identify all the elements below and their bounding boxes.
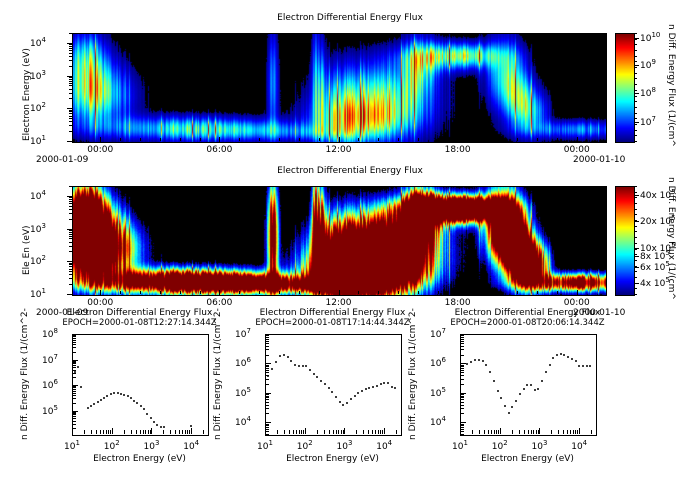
y-minor-tick [72, 412, 76, 413]
y-minor-tick [69, 81, 73, 82]
y-tickmark [67, 294, 73, 295]
x-minor-tick [148, 430, 149, 434]
y-minor-tick [265, 370, 269, 371]
x-tickmark [579, 428, 580, 434]
data-point [80, 386, 82, 388]
x-tickmark [500, 428, 501, 434]
y-minor-tick [69, 263, 73, 264]
data-point [294, 364, 296, 366]
cbar-minor-tick [634, 39, 637, 40]
cbar-tickmark [634, 122, 639, 123]
spectrum-x-label-2: Electron Energy (eV) [440, 454, 615, 464]
x-minor-tick [336, 430, 337, 434]
y-minor-tick [460, 372, 464, 373]
top-date-left: 2000-01-09 [36, 155, 88, 165]
y-minor-tick [69, 113, 73, 114]
x-minor-tick [140, 291, 141, 294]
cbar-minor-tick [634, 90, 637, 91]
x-minor-tick [145, 430, 146, 434]
x-minor-tick [84, 430, 85, 434]
y-minor-tick [69, 93, 73, 94]
x-minor-tick [396, 430, 397, 434]
y-minor-tick [460, 425, 464, 426]
data-point [103, 397, 105, 399]
y-minor-tick [265, 337, 269, 338]
y-tick-top-3: 103 [30, 69, 46, 82]
y-minor-tick [69, 89, 73, 90]
y-minor-tick [69, 66, 73, 67]
x-minor-tick [378, 430, 379, 434]
y-minor-tick [72, 344, 76, 345]
x-minor-tick [573, 430, 574, 434]
data-point [328, 387, 330, 389]
cbar-tick-top-3: 1010 [640, 31, 660, 44]
x-minor-tick [160, 138, 161, 141]
x-minor-tick [570, 430, 571, 434]
x-minor-tick [512, 430, 513, 434]
x-minor-tick [143, 430, 144, 434]
x-minor-tick [136, 430, 137, 434]
y-minor-tick [72, 362, 76, 363]
x-minor-tick [293, 430, 294, 434]
data-point [100, 399, 102, 401]
x-minor-tick [358, 291, 359, 294]
spectrum-x-tick-1-1: 102 [294, 439, 316, 452]
y-minor-tick [69, 85, 73, 86]
y-minor-tick [69, 121, 73, 122]
spectrum-y-label-0: n Diff. Energy Flux (1/(cm^2- [20, 308, 30, 440]
y-minor-tick [69, 284, 73, 285]
y-minor-tick [265, 355, 269, 356]
data-point [160, 426, 162, 428]
cbar-tickmark [634, 195, 639, 196]
y-minor-tick [69, 131, 73, 132]
data-point [497, 390, 499, 392]
cbar-minor-tick [634, 249, 637, 250]
x-minor-tick [458, 138, 459, 141]
x-minor-tick [277, 430, 278, 434]
middle-spectrogram-plot [72, 186, 607, 296]
y-minor-tick [265, 434, 269, 435]
y-minor-tick [460, 335, 464, 336]
y-minor-tick [72, 365, 76, 366]
y-minor-tick [460, 341, 464, 342]
data-point [482, 360, 484, 362]
x-minor-tick [299, 430, 300, 434]
x-minor-tick [577, 138, 578, 141]
spectrum-y-tick-2-2: 106 [430, 356, 446, 369]
x-minor-tick [203, 430, 204, 434]
y-minor-tick [69, 116, 73, 117]
x-minor-tick [179, 430, 180, 434]
cbar-minor-tick [634, 96, 637, 97]
y-minor-tick [72, 335, 76, 336]
y-minor-tick [69, 79, 73, 80]
x-tickmark [265, 428, 266, 434]
x-minor-tick [185, 430, 186, 434]
x-minor-tick [418, 138, 419, 141]
x-tickmark [344, 428, 345, 434]
data-point [271, 368, 273, 370]
spectrum-y-tick-0-3: 108 [42, 327, 58, 340]
x-minor-tick [577, 430, 578, 434]
x-minor-tick [375, 430, 376, 434]
x-minor-tick [484, 430, 485, 434]
spectrum-y-tick-1-1: 105 [235, 386, 251, 399]
x-minor-tick [536, 430, 537, 434]
x-minor-tick [378, 138, 379, 141]
y-minor-tick [69, 125, 73, 126]
x-minor-tick [458, 291, 459, 294]
y-minor-tick [69, 60, 73, 61]
data-point [140, 405, 142, 407]
y-minor-tick [265, 405, 269, 406]
cbar-tick-top-2: 109 [640, 58, 656, 71]
x-minor-tick [319, 291, 320, 294]
x-minor-tick [577, 291, 578, 294]
cbar-tickmark [634, 93, 639, 94]
data-point [571, 358, 573, 360]
x-minor-tick [438, 138, 439, 141]
cbar-tickmark [634, 221, 639, 222]
x-minor-tick [533, 430, 534, 434]
spectrum-x-label-0: Electron Energy (eV) [52, 454, 227, 464]
data-point [541, 380, 543, 382]
y-tick-middle-4: 104 [30, 189, 46, 202]
data-point [335, 396, 337, 398]
cbar-minor-tick [634, 271, 637, 272]
data-point [354, 395, 356, 397]
spectrum-y-tick-0-1: 106 [42, 378, 58, 391]
y-minor-tick [72, 340, 76, 341]
spectrum-x-tick-0-1: 102 [101, 439, 123, 452]
y-minor-tick [69, 278, 73, 279]
y-minor-tick [72, 413, 76, 414]
y-minor-tick [72, 421, 76, 422]
x-minor-tick [418, 291, 419, 294]
cbar-minor-tick [634, 50, 637, 51]
x-minor-tick [497, 291, 498, 294]
spectrum-y-tick-0-2: 107 [42, 353, 58, 366]
x-minor-tick [567, 430, 568, 434]
x-minor-tick [170, 430, 171, 434]
x-tick-top-4: 00:00 [562, 145, 592, 155]
x-tickmark [539, 428, 540, 434]
x-minor-tick [187, 430, 188, 434]
y-minor-tick [69, 50, 73, 51]
x-minor-tick [303, 430, 304, 434]
y-minor-tick [69, 201, 73, 202]
spectrum-x-tick-0-2: 103 [140, 439, 162, 452]
x-tickmark [384, 428, 385, 434]
y-minor-tick [72, 395, 76, 396]
top-colorbar [615, 33, 635, 143]
spectrum-y-tick-1-0: 104 [235, 415, 251, 428]
y-minor-tick [460, 413, 464, 414]
y-minor-tick [460, 337, 464, 338]
y-minor-tick [72, 393, 76, 394]
x-minor-tick [120, 138, 121, 141]
x-minor-tick [131, 430, 132, 434]
x-minor-tick [517, 138, 518, 141]
spectrum-y-label-1: n Diff. Energy Flux (1/(cm^2- [213, 308, 223, 440]
y-minor-tick [69, 232, 73, 233]
spectrum-x-tick-2-2: 103 [528, 439, 550, 452]
x-minor-tick [301, 430, 302, 434]
x-minor-tick [557, 138, 558, 141]
y-minor-tick [69, 98, 73, 99]
y-minor-tick [72, 347, 76, 348]
y-minor-tick [72, 336, 76, 337]
x-minor-tick [96, 430, 97, 434]
x-tickmark [305, 428, 306, 434]
cbar-tick-top-0: 107 [640, 115, 656, 128]
x-minor-tick [100, 138, 101, 141]
x-tickmark [151, 428, 152, 434]
x-minor-tick [338, 430, 339, 434]
y-minor-tick [69, 246, 73, 247]
cbar-minor-tick [634, 78, 637, 79]
spectrum-x-tick-0-3: 104 [180, 439, 202, 452]
y-tickmark [67, 141, 73, 142]
x-minor-tick [358, 138, 359, 141]
x-minor-tick [299, 138, 300, 141]
data-point [309, 369, 311, 371]
x-minor-tick [284, 430, 285, 434]
x-minor-tick [103, 430, 104, 434]
x-minor-tick [279, 291, 280, 294]
cbar-minor-tick [634, 61, 637, 62]
x-minor-tick [517, 291, 518, 294]
x-minor-tick [175, 430, 176, 434]
y-minor-tick [265, 341, 269, 342]
cbar-minor-tick [634, 214, 637, 215]
y-minor-tick [69, 271, 73, 272]
y-minor-tick [69, 269, 73, 270]
y-minor-tick [72, 391, 76, 392]
top-panel-title: Electron Differential Energy Flux [200, 13, 500, 23]
x-minor-tick [537, 291, 538, 294]
y-minor-tick [460, 424, 464, 425]
x-minor-tick [363, 430, 364, 434]
data-point [90, 405, 92, 407]
y-tick-middle-3: 103 [30, 222, 46, 235]
x-minor-tick [180, 291, 181, 294]
x-minor-tick [382, 430, 383, 434]
data-point [515, 400, 517, 402]
x-minor-tick [219, 291, 220, 294]
y-minor-tick [265, 365, 269, 366]
x-minor-tick [438, 291, 439, 294]
y-minor-tick [69, 197, 73, 198]
y-minor-tick [460, 339, 464, 340]
x-minor-tick [296, 430, 297, 434]
y-minor-tick [72, 398, 76, 399]
data-point [339, 401, 341, 403]
y-minor-tick [460, 396, 464, 397]
data-point [302, 365, 304, 367]
y-minor-tick [69, 77, 73, 78]
y-minor-tick [460, 384, 464, 385]
data-point [77, 366, 79, 368]
x-minor-tick [259, 138, 260, 141]
cbar-minor-tick [634, 33, 637, 34]
data-point [493, 380, 495, 382]
spectrum-x-tick-2-1: 102 [489, 439, 511, 452]
y-minor-tick [265, 372, 269, 373]
data-point [365, 388, 367, 390]
x-minor-tick [324, 430, 325, 434]
y-minor-tick [72, 342, 76, 343]
x-minor-tick [494, 430, 495, 434]
data-point [133, 400, 135, 402]
y-minor-tick [72, 416, 76, 417]
x-minor-tick [491, 430, 492, 434]
y-minor-tick [460, 397, 464, 398]
spectrum-x-tick-1-3: 104 [373, 439, 395, 452]
x-minor-tick [200, 291, 201, 294]
y-minor-tick [265, 349, 269, 350]
y-minor-tick [265, 424, 269, 425]
x-minor-tick [110, 430, 111, 434]
x-minor-tick [219, 138, 220, 141]
cbar-minor-tick [634, 197, 637, 198]
data-point [380, 383, 382, 385]
data-point [478, 359, 480, 361]
x-minor-tick [108, 430, 109, 434]
data-point [549, 364, 551, 366]
x-minor-tick [100, 291, 101, 294]
x-tick-middle-4: 00:00 [562, 298, 592, 308]
data-point [123, 394, 125, 396]
y-minor-tick [460, 375, 464, 376]
y-minor-tick [265, 343, 269, 344]
cbar-minor-tick [634, 266, 637, 267]
y-minor-tick [265, 413, 269, 414]
y-minor-tick [72, 338, 76, 339]
x-minor-tick [239, 138, 240, 141]
spectrum-plot-0 [72, 334, 209, 436]
y-minor-tick [69, 203, 73, 204]
data-point [575, 360, 577, 362]
x-minor-tick [189, 430, 190, 434]
x-tickmark [72, 428, 73, 434]
data-point [110, 393, 112, 395]
cbar-minor-tick [634, 260, 637, 261]
y-minor-tick [69, 199, 73, 200]
x-minor-tick [329, 430, 330, 434]
x-minor-tick [343, 430, 344, 434]
data-point [387, 382, 389, 384]
x-minor-tick [239, 291, 240, 294]
y-minor-tick [265, 339, 269, 340]
y-minor-tick [69, 44, 73, 45]
data-point [120, 393, 122, 395]
x-tick-top-1: 06:00 [204, 145, 234, 155]
y-minor-tick [265, 396, 269, 397]
y-minor-tick [72, 367, 76, 368]
x-minor-tick [180, 138, 181, 141]
x-minor-tick [339, 291, 340, 294]
y-minor-tick [69, 46, 73, 47]
y-minor-tick [69, 242, 73, 243]
cbar-minor-tick [634, 107, 637, 108]
x-minor-tick [339, 138, 340, 141]
y-minor-tick [69, 48, 73, 49]
cbar-minor-tick [634, 44, 637, 45]
data-point [578, 365, 580, 367]
spectrum-y-tick-0-0: 105 [42, 404, 58, 417]
y-minor-tick [72, 403, 76, 404]
y-minor-tick [72, 352, 76, 353]
x-minor-tick [498, 430, 499, 434]
x-minor-tick [558, 430, 559, 434]
x-minor-tick [488, 430, 489, 434]
cbar-tickmark [634, 267, 639, 268]
spectrum-y-tick-2-0: 104 [430, 415, 446, 428]
cbar-minor-tick [634, 277, 637, 278]
x-tickmark [112, 428, 113, 434]
data-point [150, 417, 152, 419]
cbar-tick-top-1: 108 [640, 86, 656, 99]
y-minor-tick [69, 56, 73, 57]
data-point [560, 353, 562, 355]
x-tick-top-3: 18:00 [443, 145, 473, 155]
x-minor-tick [380, 430, 381, 434]
cbar-minor-tick [634, 243, 637, 244]
cbar-minor-tick [634, 130, 637, 131]
middle-colorbar [615, 186, 635, 296]
cbar-minor-tick [634, 254, 637, 255]
x-minor-tick [497, 138, 498, 141]
y-tick-middle-2: 102 [30, 254, 46, 267]
y-minor-tick [460, 343, 464, 344]
data-point [361, 390, 363, 392]
x-minor-tick [528, 430, 529, 434]
x-minor-tick [299, 291, 300, 294]
y-minor-tick [72, 389, 76, 390]
x-minor-tick [100, 430, 101, 434]
spectrum-y-label-2: n Diff. Energy Flux (1/(cm^2- [408, 308, 418, 440]
cbar-minor-tick [634, 226, 637, 227]
x-minor-tick [575, 430, 576, 434]
data-point [279, 355, 281, 357]
y-minor-tick [265, 408, 269, 409]
x-tick-middle-2: 12:00 [324, 298, 354, 308]
y-minor-tick [265, 368, 269, 369]
y-minor-tick [72, 386, 76, 387]
y-minor-tick [69, 83, 73, 84]
spectrum-y-tick-1-2: 106 [235, 356, 251, 369]
x-minor-tick [372, 430, 373, 434]
x-minor-tick [356, 430, 357, 434]
data-point [523, 388, 525, 390]
cbar-minor-tick [634, 209, 637, 210]
y-minor-tick [265, 425, 269, 426]
x-minor-tick [368, 430, 369, 434]
x-minor-tick [398, 291, 399, 294]
cbar-minor-tick [634, 101, 637, 102]
cbar-minor-tick [634, 294, 637, 295]
x-minor-tick [472, 430, 473, 434]
cbar-minor-tick [634, 84, 637, 85]
cbar-minor-tick [634, 288, 637, 289]
x-minor-tick [551, 430, 552, 434]
y-minor-tick [460, 355, 464, 356]
x-minor-tick [531, 430, 532, 434]
y-minor-tick [72, 361, 76, 362]
y-minor-tick [69, 266, 73, 267]
